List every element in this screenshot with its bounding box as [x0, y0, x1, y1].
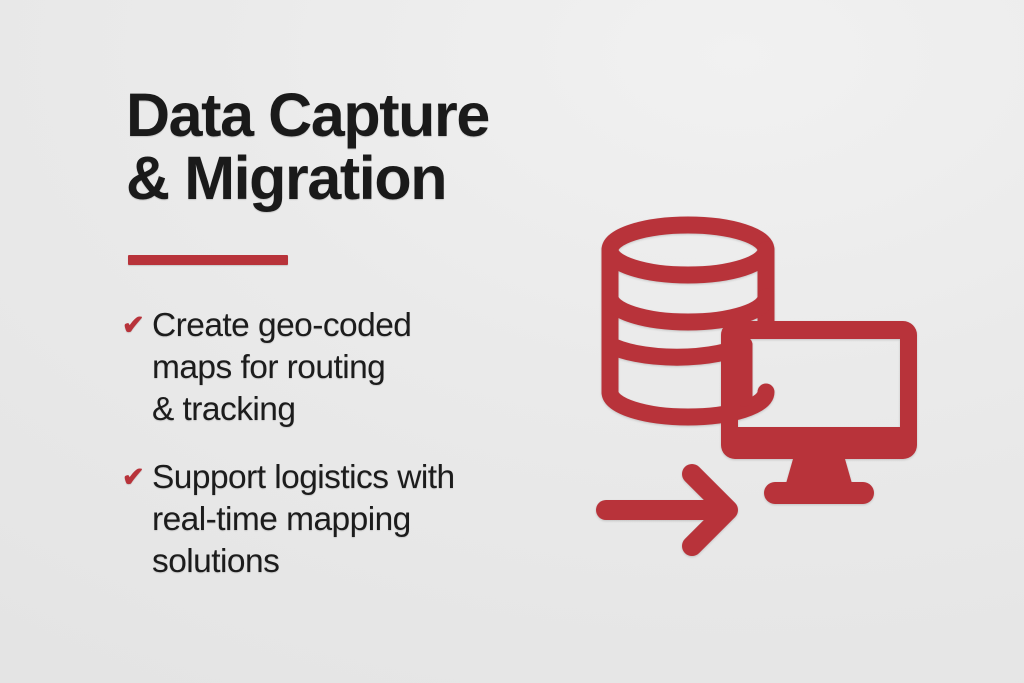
list-item-label: Create geo-coded maps for routing & trac… [152, 305, 411, 431]
right-arrow-icon [606, 474, 728, 546]
list-item: ✔ Support logistics with real-time mappi… [126, 457, 586, 583]
database-to-monitor-migration-icon [588, 212, 928, 572]
slide-canvas: Data Capture & Migration ✔ Create geo-co… [0, 0, 1024, 683]
title-divider [128, 255, 288, 265]
check-icon: ✔ [122, 457, 152, 497]
page-title: Data Capture & Migration [126, 84, 586, 210]
list-item: ✔ Create geo-coded maps for routing & tr… [126, 305, 586, 431]
bullet-list: ✔ Create geo-coded maps for routing & tr… [126, 305, 586, 583]
list-item-label: Support logistics with real-time mapping… [152, 457, 455, 583]
check-icon: ✔ [122, 305, 152, 345]
text-column: Data Capture & Migration ✔ Create geo-co… [126, 84, 586, 583]
